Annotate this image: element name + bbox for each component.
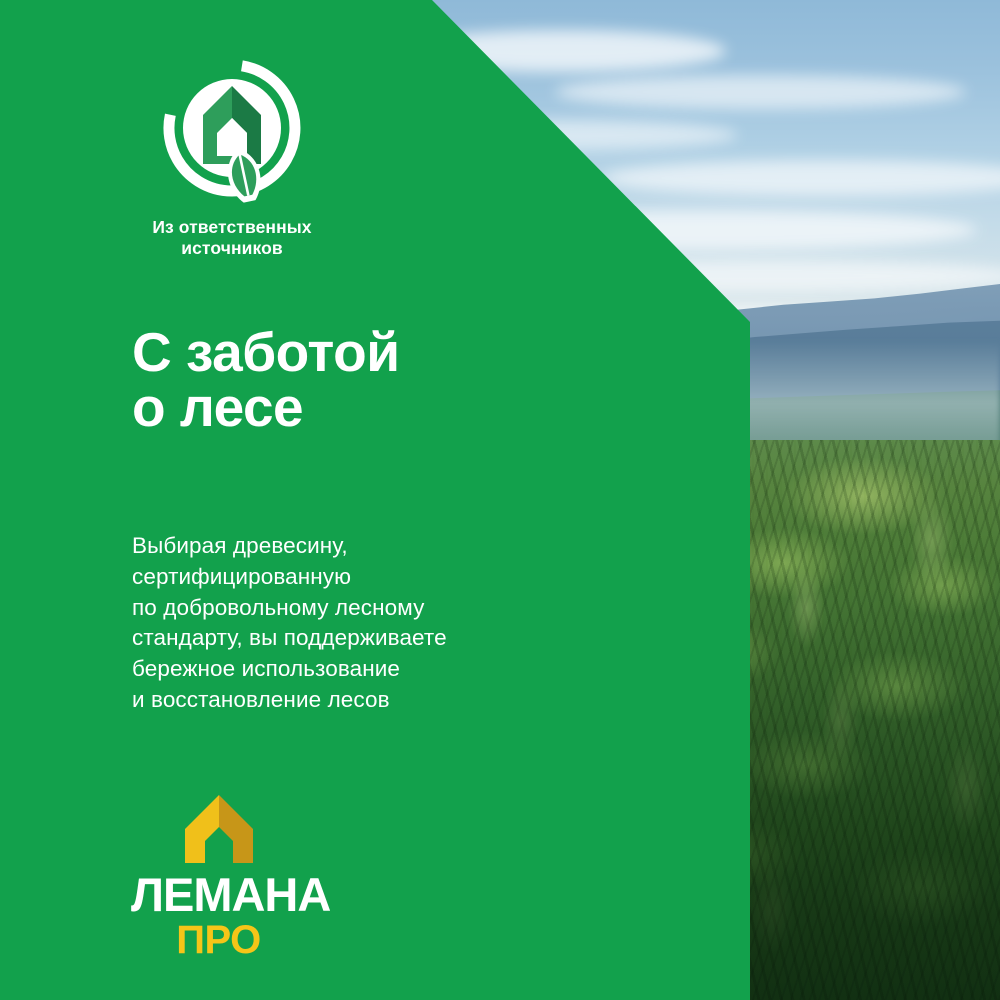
body-copy: Выбирая древесину, сертифицированную по …: [132, 531, 447, 716]
certification-badge: Из ответственных источников: [132, 60, 332, 260]
brand-lockup: ЛЕМАНА ПРО: [131, 793, 306, 960]
content-layer: Из ответственных источников С заботой о …: [0, 0, 1000, 1000]
brand-name: ЛЕМАНА: [131, 871, 306, 918]
lemana-house-icon: [179, 793, 259, 865]
poster-root: Из ответственных источников С заботой о …: [0, 0, 1000, 1000]
certification-badge-caption: Из ответственных источников: [132, 217, 332, 260]
brand-sub: ПРО: [131, 920, 306, 960]
responsible-sources-seal-icon: [162, 60, 302, 205]
page-title: С заботой о лесе: [132, 325, 400, 435]
